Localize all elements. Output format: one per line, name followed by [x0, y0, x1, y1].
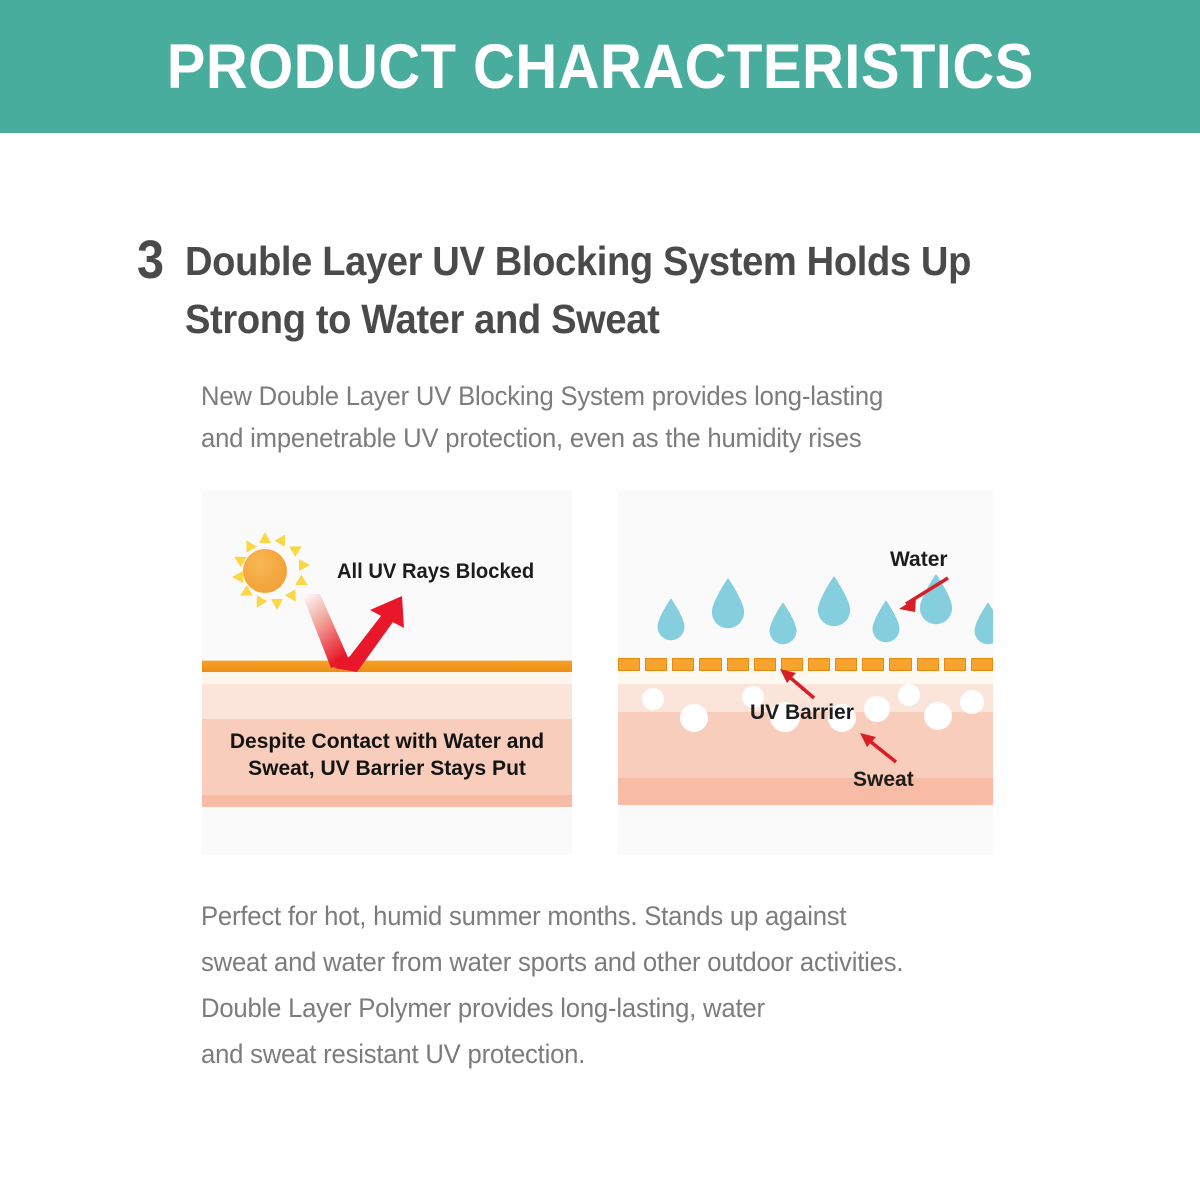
- footer-line-3: Double Layer Polymer provides long-lasti…: [201, 985, 1056, 1031]
- caption-line-2: Sweat, UV Barrier Stays Put: [202, 755, 572, 782]
- subheading-line-2: and impenetrable UV protection, even as …: [201, 417, 1037, 459]
- uv-bounce-arrow-icon: [298, 594, 418, 676]
- footer-line-4: and sweat resistant UV protection.: [201, 1031, 1056, 1077]
- uv-blocked-diagram: All UV Rays Blocked Despite Contact with…: [202, 490, 572, 855]
- skin-layer-light: [202, 684, 572, 719]
- sun-icon: [226, 532, 304, 610]
- label-water: Water: [890, 548, 948, 572]
- footer-line-2: sweat and water from water sports and ot…: [201, 939, 1056, 985]
- page-title: PRODUCT CHARACTERISTICS: [166, 31, 1033, 103]
- uv-barrier-arrow-icon: [780, 669, 814, 698]
- sweat-arrow-icon: [860, 733, 896, 762]
- label-all-uv-rays-blocked: All UV Rays Blocked: [337, 560, 534, 584]
- label-uv-barrier: UV Barrier: [750, 701, 854, 725]
- section-subheading: New Double Layer UV Blocking System prov…: [201, 375, 1037, 459]
- water-sweat-diagram: Water UV Barrier Sweat: [618, 490, 993, 855]
- caption-line-1: Despite Contact with Water and: [202, 728, 572, 755]
- subheading-line-1: New Double Layer UV Blocking System prov…: [201, 375, 1037, 417]
- annotation-arrows: [618, 490, 993, 855]
- footer-line-1: Perfect for hot, humid summer months. St…: [201, 893, 1056, 939]
- section-heading: Double Layer UV Blocking System Holds Up…: [185, 232, 1024, 348]
- water-arrow-icon: [899, 578, 948, 612]
- heading-line-2: Strong to Water and Sweat: [185, 290, 1024, 348]
- heading-line-1: Double Layer UV Blocking System Holds Up: [185, 232, 1024, 290]
- left-panel-caption: Despite Contact with Water and Sweat, UV…: [202, 728, 572, 782]
- step-number: 3: [137, 232, 164, 288]
- footer-paragraph: Perfect for hot, humid summer months. St…: [201, 893, 1056, 1077]
- sun-core: [243, 549, 287, 593]
- header-banner: PRODUCT CHARACTERISTICS: [0, 0, 1200, 133]
- label-sweat: Sweat: [853, 768, 914, 792]
- section-heading-row: 3 Double Layer UV Blocking System Holds …: [137, 232, 1087, 348]
